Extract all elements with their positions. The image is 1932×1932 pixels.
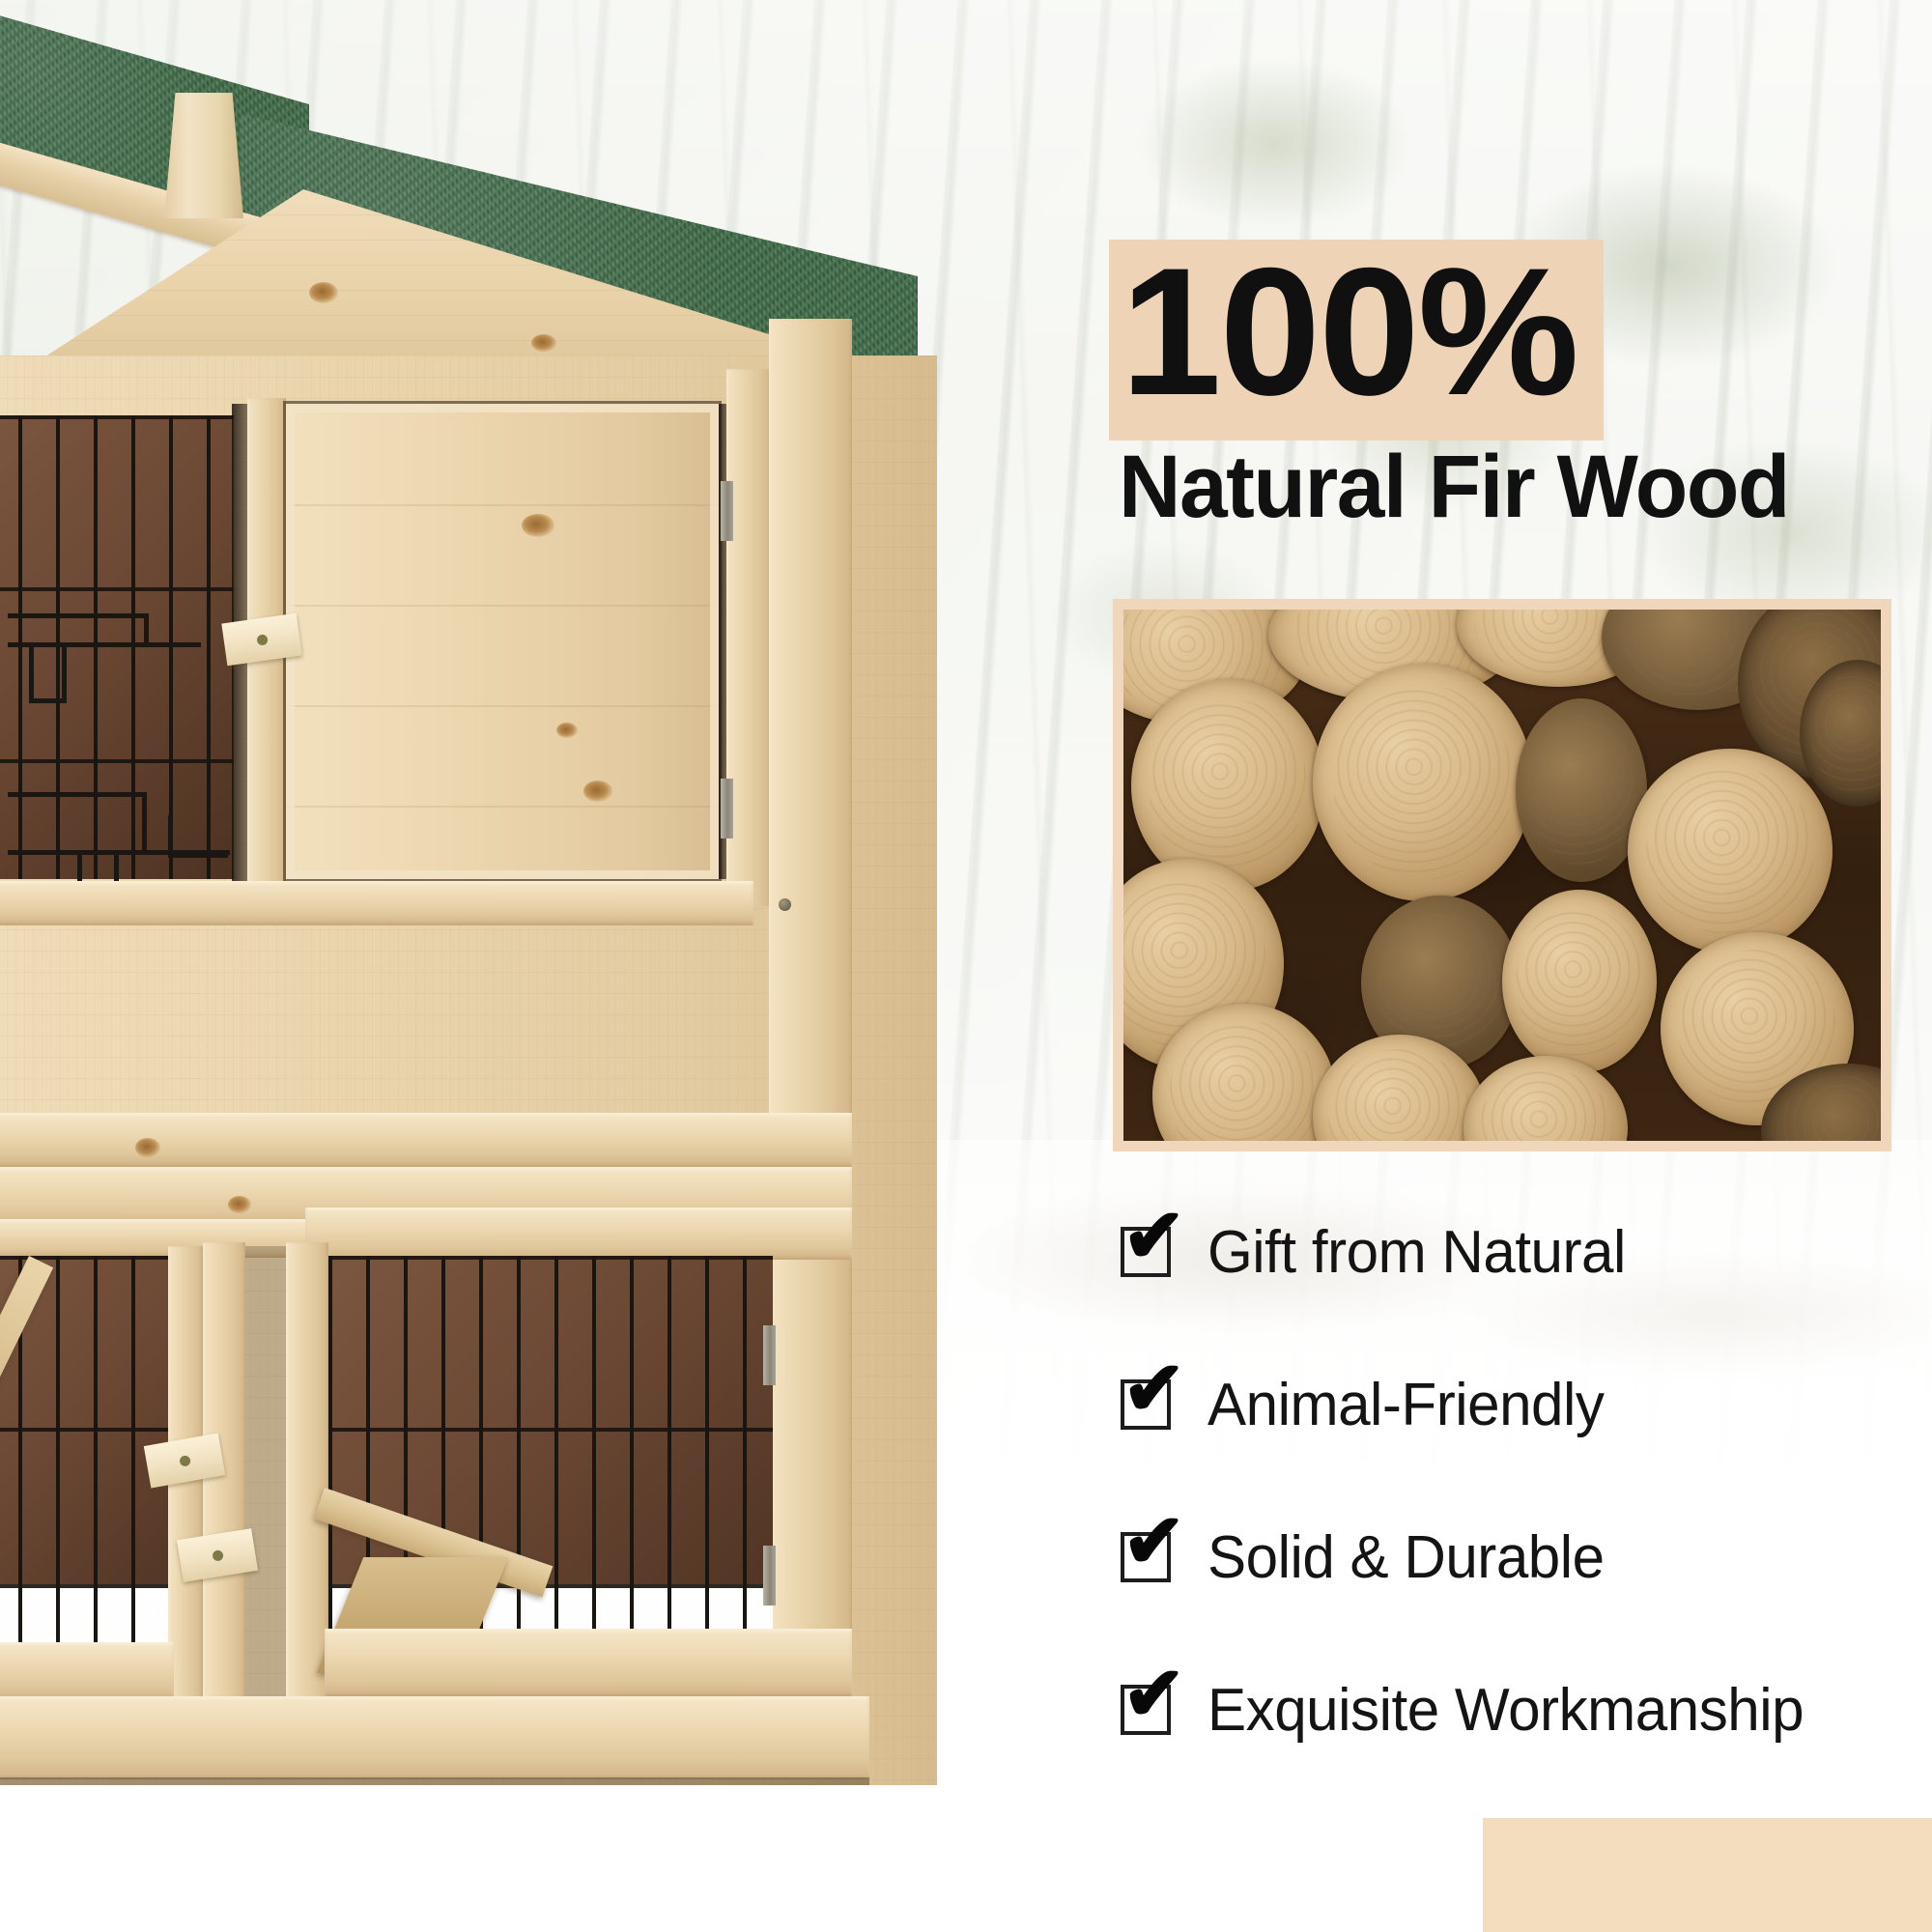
promo-banner: 100% Natural Fir Wood bbox=[0, 0, 1932, 1932]
mid-rail-middle bbox=[0, 1113, 852, 1167]
log-round bbox=[1131, 679, 1324, 892]
check-glyph: ✔ bbox=[1122, 1511, 1186, 1575]
checkbox-checked-icon: ✔ bbox=[1121, 1379, 1171, 1430]
bottom-rail-right bbox=[325, 1629, 852, 1696]
feature-item: ✔ Animal-Friendly bbox=[1121, 1358, 1932, 1451]
upper-wood-door-panel[interactable] bbox=[286, 404, 719, 879]
upper-door-hinge-bottom bbox=[721, 779, 733, 838]
lower-door-gap bbox=[245, 1246, 286, 1748]
upper-door-hinge-top bbox=[721, 481, 733, 541]
check-glyph: ✔ bbox=[1122, 1663, 1186, 1727]
feature-label: Gift from Natural bbox=[1207, 1218, 1626, 1287]
wood-knot bbox=[135, 1138, 160, 1157]
headline-subtitle: Natural Fir Wood bbox=[1119, 437, 1924, 543]
feature-label: Solid & Durable bbox=[1207, 1523, 1605, 1592]
feature-checklist: ✔ Gift from Natural ✔ Animal-Friendly ✔ … bbox=[1121, 1206, 1932, 1816]
lower-door-hinge-top bbox=[763, 1325, 776, 1385]
wood-knot bbox=[583, 781, 612, 802]
feature-item: ✔ Solid & Durable bbox=[1121, 1511, 1932, 1604]
headline-percentage: 100% bbox=[1121, 230, 1662, 442]
wood-knot bbox=[309, 282, 338, 303]
log-round bbox=[1502, 890, 1657, 1073]
check-glyph: ✔ bbox=[1122, 1358, 1186, 1422]
wood-knot bbox=[556, 723, 578, 738]
base-shadow bbox=[0, 1777, 869, 1785]
post-screw bbox=[779, 898, 791, 911]
wood-knot bbox=[228, 1196, 251, 1213]
feature-label: Exquisite Workmanship bbox=[1207, 1676, 1804, 1745]
product-photo-rabbit-hutch bbox=[0, 0, 1024, 1806]
bottom-rail-left bbox=[0, 1642, 174, 1700]
feature-item: ✔ Exquisite Workmanship bbox=[1121, 1663, 1932, 1756]
log-round bbox=[1313, 664, 1533, 901]
wood-knot bbox=[522, 514, 554, 537]
corner-accent-block bbox=[1483, 1818, 1932, 1932]
lower-door-stile-b bbox=[203, 1242, 245, 1752]
roof-ridge-cap bbox=[164, 93, 243, 218]
feature-label: Animal-Friendly bbox=[1207, 1371, 1604, 1439]
wood-knot bbox=[531, 334, 556, 352]
lower-right-header-rail bbox=[305, 1207, 852, 1260]
feature-item: ✔ Gift from Natural bbox=[1121, 1206, 1932, 1298]
base-rail bbox=[0, 1696, 869, 1779]
log-round bbox=[1628, 749, 1833, 953]
checkbox-checked-icon: ✔ bbox=[1121, 1227, 1171, 1277]
check-glyph: ✔ bbox=[1122, 1206, 1186, 1269]
wire-latch-detail bbox=[8, 613, 201, 720]
mid-rail-upper bbox=[0, 881, 753, 925]
lower-door-hinge-bottom bbox=[763, 1546, 776, 1605]
checkbox-checked-icon: ✔ bbox=[1121, 1532, 1171, 1582]
log-photo-frame bbox=[1113, 599, 1891, 1151]
checkbox-checked-icon: ✔ bbox=[1121, 1685, 1171, 1735]
log-photo bbox=[1123, 610, 1881, 1141]
corner-post bbox=[769, 319, 852, 1777]
